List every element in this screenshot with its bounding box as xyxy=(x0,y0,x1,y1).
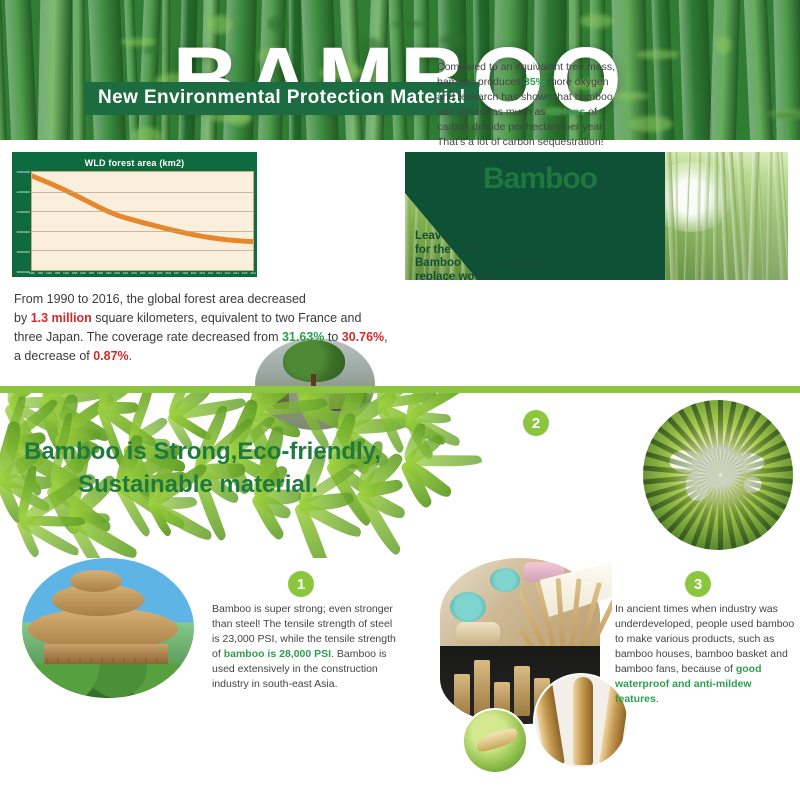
chart-x-tick: 2004 xyxy=(148,270,154,279)
chart-gridline xyxy=(32,211,253,212)
chart-x-tick: 2009 xyxy=(191,270,197,279)
intro-line-3b: to xyxy=(324,330,341,344)
hero-banner: BAMBOO New Environmental Protection Mate… xyxy=(0,0,800,140)
chart-x-axis: 1990199119921993199419951996199719981999… xyxy=(28,270,257,278)
chart-gridline xyxy=(32,192,253,193)
chart-line-series xyxy=(32,172,253,270)
infographic-page: BAMBOO New Environmental Protection Mate… xyxy=(0,0,800,800)
chart-x-tick: 1997 xyxy=(89,270,95,279)
bamboo-leaf xyxy=(580,14,613,28)
bamboo-box xyxy=(454,674,470,716)
chart-x-tick: 2003 xyxy=(140,270,146,279)
stat-28000-psi: bamboo is 28,000 PSI xyxy=(224,648,331,660)
chart-y-tick: 43000000 xyxy=(17,171,30,174)
hut-garden-hedge xyxy=(22,664,194,698)
slogan-line-4: replace wood. xyxy=(415,271,492,281)
deforestation-section: WLD forest area (km2) 430000004200000041… xyxy=(0,140,800,375)
chart-y-tick: 42000000 xyxy=(17,191,30,194)
chart-x-tick: 1991 xyxy=(38,270,44,279)
point-badge-3: 3 xyxy=(685,571,711,597)
bamboo-watermark: Bamboo xyxy=(483,162,597,196)
basket xyxy=(490,568,520,592)
bamboo-box xyxy=(514,666,530,716)
point-badge-1: 1 xyxy=(288,571,314,597)
bamboo-cane xyxy=(756,152,765,280)
chart-x-tick: 2012 xyxy=(216,270,222,279)
chart-x-tick: 2001 xyxy=(123,270,129,279)
slogan-card: Bamboo Leave one more tree for the earth… xyxy=(405,152,788,280)
chart-plot-area xyxy=(31,171,254,271)
chart-y-tick: 41000000 xyxy=(17,211,30,214)
headline-line-1: Bamboo is Strong,Eco-friendly, xyxy=(24,438,381,465)
bamboo-shoot xyxy=(475,727,520,753)
forest-area-chart: WLD forest area (km2) 430000004200000041… xyxy=(12,152,257,277)
chart-x-tick: 2010 xyxy=(199,270,205,279)
chart-x-tick: 2005 xyxy=(157,270,163,279)
chart-x-tick: 1992 xyxy=(46,270,52,279)
stat-31-63: 31.63% xyxy=(282,330,324,344)
slogan-line-1: Leave one more tree xyxy=(415,230,527,242)
bamboo-cane xyxy=(713,152,719,280)
chart-gridline xyxy=(32,250,253,251)
chart-x-tick: 2000 xyxy=(114,270,120,279)
stat-1-3-million: 1.3 million xyxy=(31,311,92,325)
chart-title: WLD forest area (km2) xyxy=(15,155,254,171)
stat-35-percent: 35% xyxy=(524,76,545,88)
chart-y-axis: 4300000042000000410000004000000039000000… xyxy=(15,171,31,271)
slogan-line-3: Bamboo can completely xyxy=(415,257,547,269)
chart-x-tick: 2007 xyxy=(174,270,180,279)
bamboo-pole xyxy=(573,677,593,765)
slogan-text: Leave one more tree for the earth, Bambo… xyxy=(415,230,547,280)
intro-line-3a: three Japan. The coverage rate decreased… xyxy=(14,330,282,344)
intro-line-1: From 1990 to 2016, the global forest are… xyxy=(14,292,306,306)
chart-y-tick: 40000000 xyxy=(17,231,30,234)
chart-x-tick: 2013 xyxy=(225,270,231,279)
basket xyxy=(450,592,486,622)
bamboo-products-collage xyxy=(440,558,610,770)
bamboo-leaf xyxy=(131,127,162,140)
hut-roof-top xyxy=(70,570,122,592)
stat-0-87: 0.87% xyxy=(93,349,128,363)
intro-line-4b: . xyxy=(129,349,132,363)
intro-line-4a: a decrease of xyxy=(14,349,93,363)
chart-x-tick: 1999 xyxy=(106,270,112,279)
intro-line-2a: by xyxy=(14,311,31,325)
chart-body: 4300000042000000410000004000000039000000… xyxy=(15,171,254,271)
chart-x-tick: 2014 xyxy=(233,270,239,279)
section-divider xyxy=(0,386,800,393)
stat-12-tons: 12 tons xyxy=(548,106,585,118)
chart-x-tick: 1996 xyxy=(80,270,86,279)
deforestation-paragraph: From 1990 to 2016, the global forest are… xyxy=(14,290,394,366)
bamboo-pole xyxy=(533,677,565,767)
chart-y-tick: 39000000 xyxy=(17,251,30,254)
point-1-text: Bamboo is super strong; even stronger th… xyxy=(212,602,400,692)
hero-subtitle-ribbon: New Environmental Protection Material xyxy=(84,82,479,115)
chart-x-tick: 2011 xyxy=(208,270,214,279)
chart-gridline xyxy=(32,231,253,232)
headline-line-2: Sustainable material. xyxy=(24,468,424,501)
point-3-text-a: In ancient times when industry was under… xyxy=(615,603,794,675)
point-3-text: In ancient times when industry was under… xyxy=(615,602,795,707)
bamboo-hut-photo xyxy=(22,558,194,698)
bamboo-shoot-photo xyxy=(462,708,528,774)
bamboo-cane xyxy=(765,152,772,280)
intro-line-2b: square kilometers, equivalent to two Fra… xyxy=(92,311,362,325)
chart-x-tick: 2008 xyxy=(182,270,188,279)
bamboo-bowl xyxy=(456,622,500,644)
intro-line-3c: , xyxy=(384,330,387,344)
slogan-line-2: for the earth, xyxy=(415,244,485,256)
chart-x-tick: 2002 xyxy=(131,270,137,279)
chart-x-tick: 2006 xyxy=(165,270,171,279)
forest-canopy-photo xyxy=(643,400,793,550)
point-badge-2: 2 xyxy=(523,410,549,436)
bamboo-box xyxy=(474,660,490,716)
chart-x-tick: 2015 xyxy=(242,270,248,279)
chart-x-tick: 1994 xyxy=(63,270,69,279)
chart-x-tick: 1995 xyxy=(72,270,78,279)
chart-x-tick: 1998 xyxy=(97,270,103,279)
chart-x-tick: 2016 xyxy=(250,270,256,279)
chart-x-tick: 1993 xyxy=(55,270,61,279)
section-headline: Bamboo is Strong,Eco-friendly, Sustainab… xyxy=(24,435,424,501)
stat-30-76: 30.76% xyxy=(342,330,384,344)
point-3-text-b: . xyxy=(656,693,659,705)
point-2-text: Compared to an equivalent tree mass, bam… xyxy=(437,60,625,150)
chart-x-tick: 1990 xyxy=(29,270,35,279)
